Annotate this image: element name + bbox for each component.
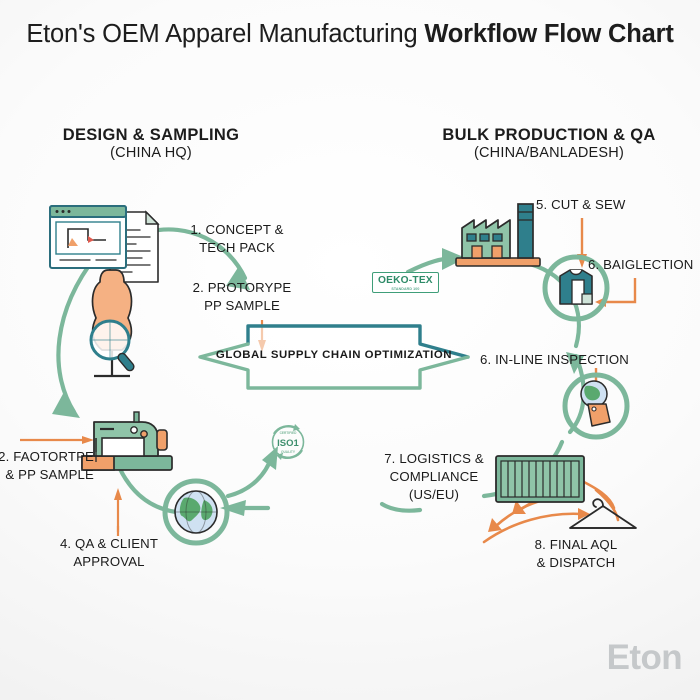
svg-text:QUALITY: QUALITY: [281, 450, 296, 454]
section-heading-design-sampling: DESIGN & SAMPLING (CHINA HQ): [46, 125, 256, 163]
section-heading-design-sampling-title: DESIGN & SAMPLING: [46, 125, 256, 145]
step-label-qa-client-approval: 4. QA & CLIENT APPROVAL: [34, 535, 184, 571]
factory-icon: [448, 198, 548, 270]
mannequin-magnifier-icon: [70, 264, 158, 388]
step-label-cut-and-sew: 5. CUT & SEW: [536, 196, 658, 214]
global-supply-chain-banner-label: GLOBAL SUPPLY CHAIN OPTIMIZATION: [192, 349, 476, 361]
svg-text:CERTIFIED: CERTIFIED: [280, 431, 298, 435]
iso-certification-badge: ISO1 CERTIFIED QUALITY: [266, 420, 310, 464]
step-label-prototype-pp-sample: 2. PROTORYPE PP SAMPLE: [182, 279, 302, 315]
page-title: Eton's OEM Apparel Manufacturing Workflo…: [0, 20, 700, 49]
flowchart-canvas: Eton's OEM Apparel Manufacturing Workflo…: [0, 0, 700, 700]
page-title-bold: Workflow Flow Chart: [424, 20, 673, 48]
oeko-tex-badge: OEKO-TEX STANDARD 100: [372, 272, 439, 293]
step-label-factory-pp-sample: 2. FAOTORTPE & PP SAMPLE: [0, 448, 94, 484]
step-label-concept-tech-pack: 1. CONCEPT & TECH PACK: [178, 221, 296, 257]
clothes-hanger-icon: [564, 492, 642, 540]
hangtag-globe-icon: [558, 368, 634, 444]
iso-badge-label: ISO1: [277, 438, 299, 449]
step-label-inline-inspection: 6. IN-LINE INSPECTION: [480, 351, 650, 369]
oeko-tex-badge-sublabel: STANDARD 100: [378, 287, 433, 291]
step-label-final-aql-dispatch: 8. FINAL AQL & DISPATCH: [506, 536, 646, 572]
section-heading-bulk-production-qa-title: BULK PRODUCTION & QA: [408, 125, 690, 145]
page-title-light: Eton's OEM Apparel Manufacturing: [26, 20, 424, 48]
step-label-bag-collection: 6. BAIGLECTION: [588, 256, 700, 274]
eton-logo: Eton: [607, 638, 682, 678]
section-heading-bulk-production-qa: BULK PRODUCTION & QA (CHINA/BANLADESH): [408, 125, 690, 163]
step-label-logistics-compliance: 7. LOGISTICS & COMPLIANCE (US/EU): [374, 450, 494, 503]
oeko-tex-badge-label: OEKO-TEX: [378, 275, 433, 286]
global-supply-chain-banner: GLOBAL SUPPLY CHAIN OPTIMIZATION: [192, 318, 476, 396]
